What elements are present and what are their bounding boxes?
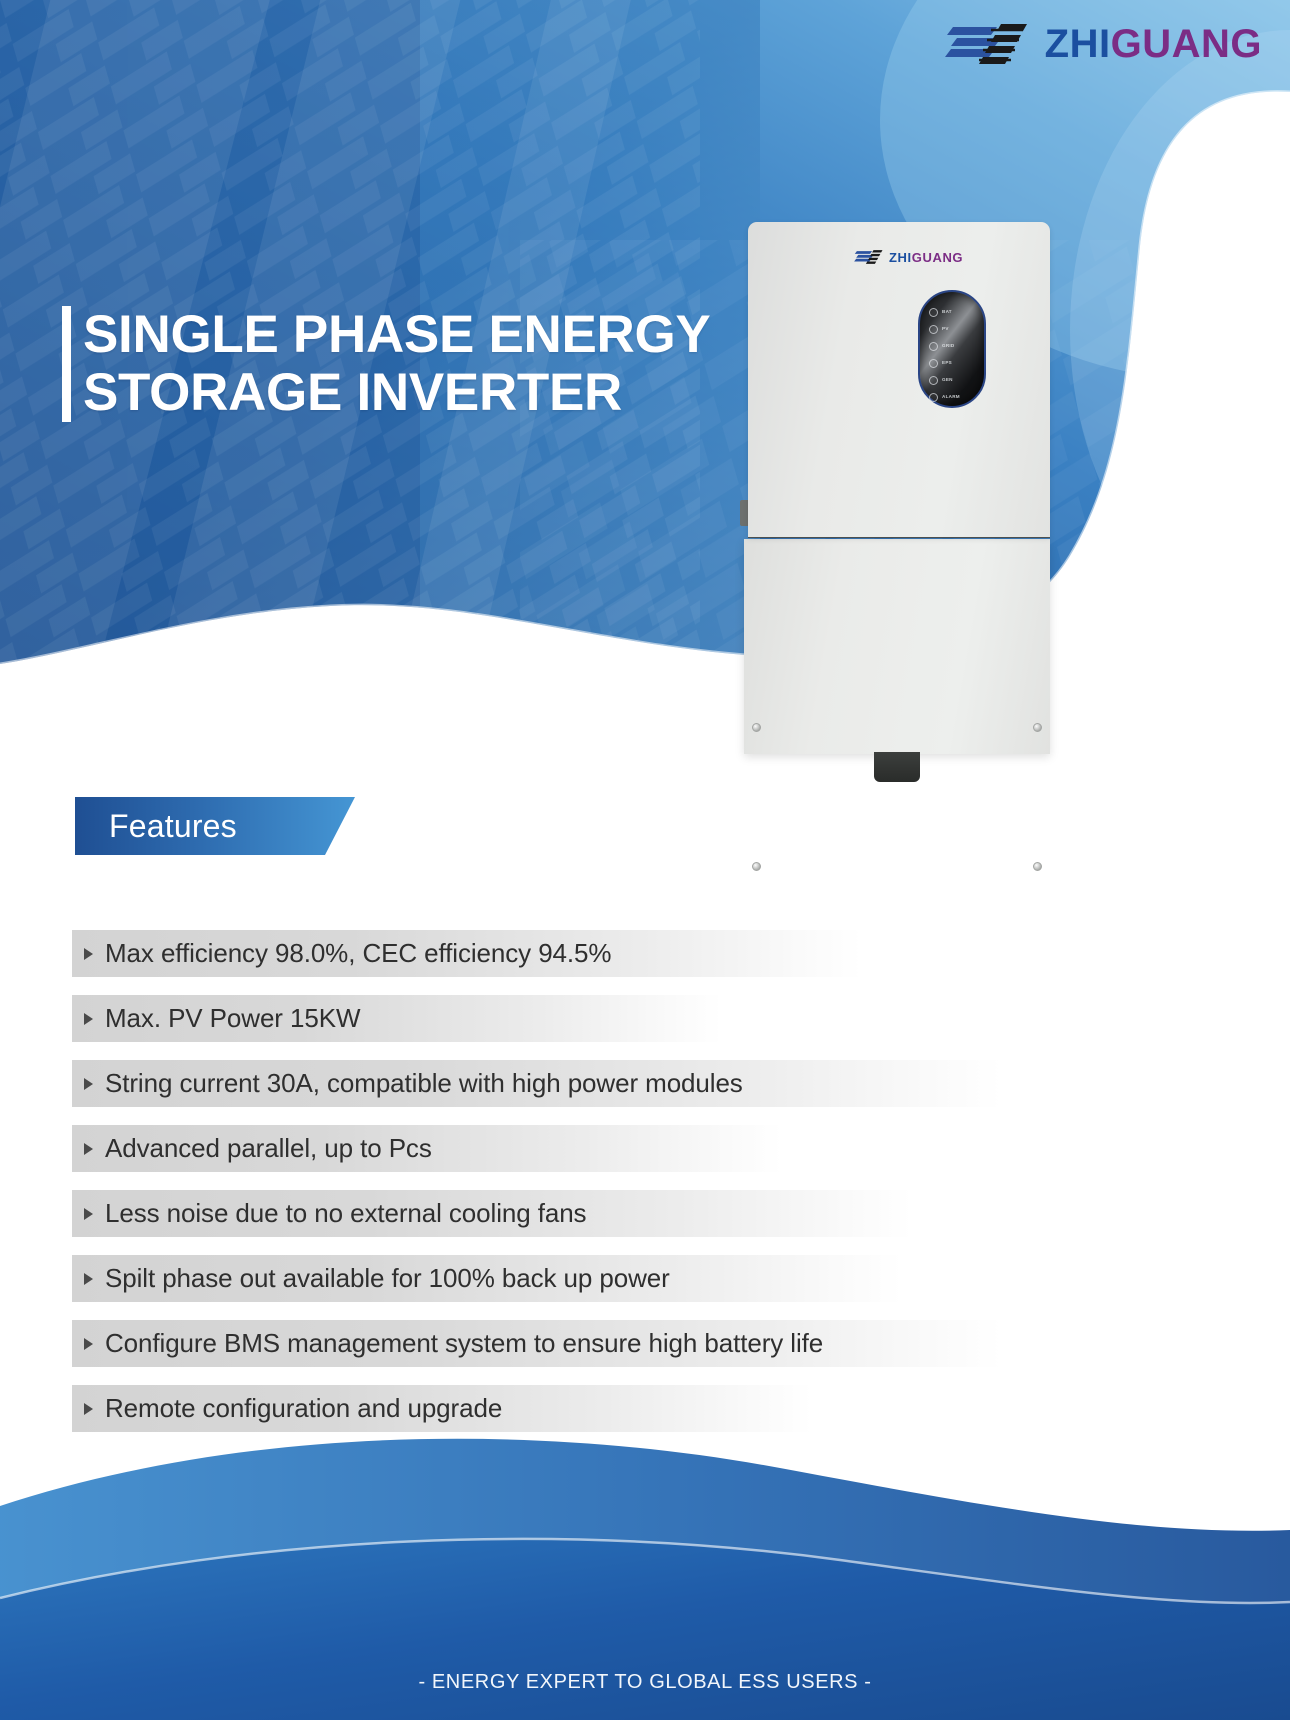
bullet-triangle-icon [84, 1273, 93, 1285]
device-brand-print: ZHIGUANG [854, 248, 963, 266]
led-indicator-grid: GRID [920, 339, 984, 353]
led-label: PV [942, 327, 949, 332]
feature-item: Max. PV Power 15KW [72, 995, 1072, 1042]
screw-icon [1033, 862, 1042, 871]
bullet-triangle-icon [84, 1143, 93, 1155]
led-indicator-bat: BAT [920, 305, 984, 319]
feature-text: Less noise due to no external cooling fa… [105, 1198, 586, 1229]
battery-enclosure [744, 539, 1050, 754]
feature-text: Configure BMS management system to ensur… [105, 1328, 823, 1359]
device-brand-guang: GUANG [912, 250, 963, 265]
led-indicator-eps: EPS [920, 356, 984, 370]
screw-icon [752, 723, 761, 732]
screw-icon [752, 862, 761, 871]
footer-tagline: - ENERGY EXPERT TO GLOBAL ESS USERS - [0, 1671, 1290, 1694]
features-title: Features [109, 797, 237, 855]
feature-text: Advanced parallel, up to Pcs [105, 1133, 432, 1164]
device-brand-wordmark: ZHIGUANG [889, 251, 963, 264]
bullet-triangle-icon [84, 1403, 93, 1415]
eps-icon [929, 359, 938, 368]
datasheet-page: ZHIGUANG SINGLE PHASE ENERGY STORAGE INV… [0, 0, 1290, 1720]
feature-item: Spilt phase out available for 100% back … [72, 1255, 1072, 1302]
led-label: BAT [942, 310, 952, 315]
feature-item: Less noise due to no external cooling fa… [72, 1190, 1072, 1237]
zhiguang-stripes-logo-icon [854, 248, 884, 266]
led-indicator-pv: PV [920, 322, 984, 336]
led-indicator-alarm: ALARM [920, 390, 984, 404]
feature-item: Max efficiency 98.0%, CEC efficiency 94.… [72, 930, 1072, 977]
led-label: GEN [942, 378, 953, 383]
grid-icon [929, 342, 938, 351]
title-text: SINGLE PHASE ENERGY STORAGE INVERTER [83, 306, 710, 422]
bullet-triangle-icon [84, 1208, 93, 1220]
features-section-header: Features [75, 797, 355, 855]
feature-item: String current 30A, compatible with high… [72, 1060, 1072, 1107]
page-title: SINGLE PHASE ENERGY STORAGE INVERTER [62, 306, 710, 422]
led-label: EPS [942, 361, 952, 366]
feature-text: Spilt phase out available for 100% back … [105, 1263, 670, 1294]
bullet-triangle-icon [84, 1078, 93, 1090]
inverter-body: ZHIGUANG BAT PV GRID EPS [748, 222, 1050, 537]
bullet-triangle-icon [84, 948, 93, 960]
feature-item: Remote configuration and upgrade [72, 1385, 1072, 1432]
features-list: Max efficiency 98.0%, CEC efficiency 94.… [72, 930, 1072, 1450]
brand-word-guang: GUANG [1111, 22, 1262, 66]
company-logo: ZHIGUANG [945, 18, 1262, 70]
led-label: GRID [942, 344, 954, 349]
device-brand-zhi: ZHI [889, 250, 912, 265]
led-label: ALARM [942, 395, 960, 400]
feature-text: String current 30A, compatible with high… [105, 1068, 743, 1099]
alarm-triangle-icon [929, 393, 938, 402]
page-footer: - ENERGY EXPERT TO GLOBAL ESS USERS - [0, 1410, 1290, 1720]
product-image: ZHIGUANG BAT PV GRID EPS [744, 222, 1050, 770]
cable-gland-icon [874, 752, 920, 782]
led-indicator-gen: GEN [920, 373, 984, 387]
led-status-panel: BAT PV GRID EPS GEN [918, 290, 986, 408]
feature-text: Max. PV Power 15KW [105, 1003, 360, 1034]
zhiguang-stripes-logo-icon [945, 18, 1031, 70]
bullet-triangle-icon [84, 1338, 93, 1350]
feature-item: Configure BMS management system to ensur… [72, 1320, 1072, 1367]
generator-icon [929, 376, 938, 385]
bullet-triangle-icon [84, 1013, 93, 1025]
feature-text: Remote configuration and upgrade [105, 1393, 502, 1424]
screw-icon [1033, 723, 1042, 732]
brand-wordmark: ZHIGUANG [1045, 24, 1262, 64]
title-accent-bar [62, 306, 71, 422]
brand-word-zhi: ZHI [1045, 22, 1111, 66]
feature-text: Max efficiency 98.0%, CEC efficiency 94.… [105, 938, 611, 969]
feature-item: Advanced parallel, up to Pcs [72, 1125, 1072, 1172]
solar-panel-icon [929, 325, 938, 334]
battery-icon [929, 308, 938, 317]
